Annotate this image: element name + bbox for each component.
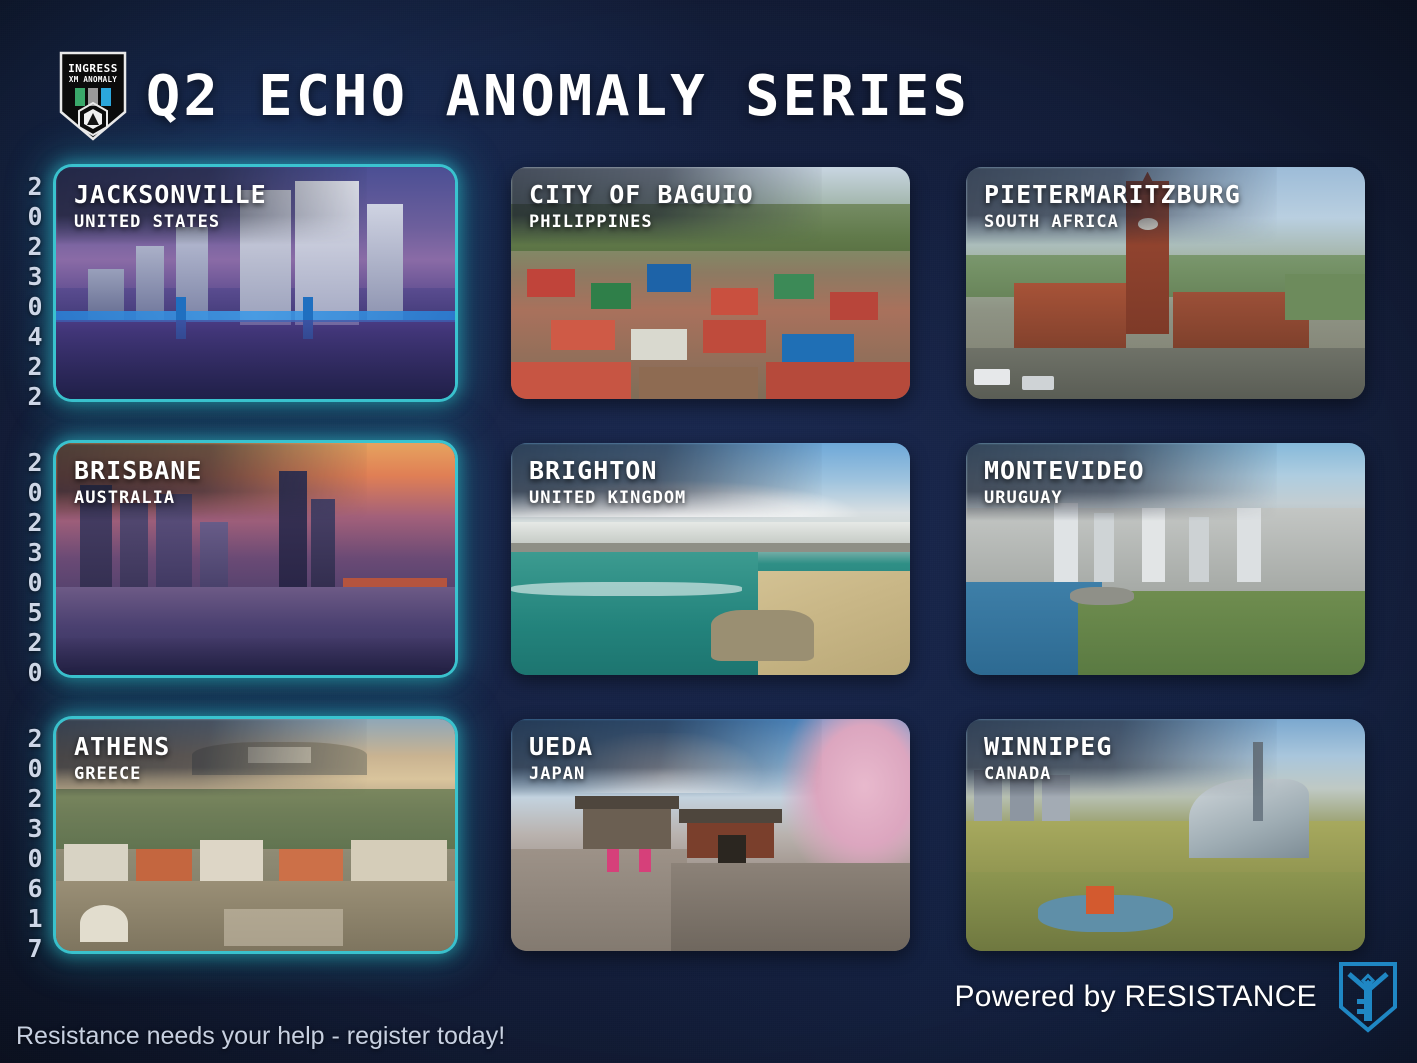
date-rail-row-1: 2 0 2 3 0 4 2 2 xyxy=(14,172,56,412)
date-char: 2 xyxy=(27,628,42,658)
country-name: SOUTH AFRICA xyxy=(984,211,1241,233)
city-card-ueda[interactable]: UEDA JAPAN xyxy=(511,719,910,951)
city-card-labels: UEDA JAPAN xyxy=(529,733,593,785)
country-name: AUSTRALIA xyxy=(74,487,202,509)
country-name: UNITED STATES xyxy=(74,211,267,233)
date-char: 6 xyxy=(27,874,42,904)
date-char: 4 xyxy=(27,322,42,352)
city-name: BRIGHTON xyxy=(529,457,686,485)
anomaly-poster: INGRESS XM ANOMALY Q2 ECHO ANOMALY SERIE… xyxy=(0,0,1417,1063)
country-name: CANADA xyxy=(984,763,1112,785)
poster-header: INGRESS XM ANOMALY Q2 ECHO ANOMALY SERIE… xyxy=(58,50,962,142)
city-name: ATHENS xyxy=(74,733,170,761)
city-card-montevideo[interactable]: MONTEVIDEO URUGUAY xyxy=(966,443,1365,675)
date-char: 2 xyxy=(27,724,42,754)
city-card-labels: MONTEVIDEO URUGUAY xyxy=(984,457,1145,509)
country-name: URUGUAY xyxy=(984,487,1145,509)
city-card-labels: ATHENS GREECE xyxy=(74,733,170,785)
ingress-xm-anomaly-logo-icon: INGRESS XM ANOMALY xyxy=(58,50,128,142)
city-card-jacksonville[interactable]: JACKSONVILLE UNITED STATES xyxy=(56,167,455,399)
date-char: 0 xyxy=(27,292,42,322)
country-name: GREECE xyxy=(74,763,170,785)
svg-text:XM ANOMALY: XM ANOMALY xyxy=(69,75,117,84)
city-name: BRISBANE xyxy=(74,457,202,485)
country-name: UNITED KINGDOM xyxy=(529,487,686,509)
city-card-winnipeg[interactable]: WINNIPEG CANADA xyxy=(966,719,1365,951)
powered-by-text: Powered by RESISTANCE xyxy=(954,980,1317,1014)
city-card-labels: CITY OF BAGUIO PHILIPPINES xyxy=(529,181,754,233)
date-char: 0 xyxy=(27,844,42,874)
date-char: 3 xyxy=(27,538,42,568)
date-char: 0 xyxy=(27,202,42,232)
date-char: 2 xyxy=(27,382,42,412)
anomaly-city-grid: JACKSONVILLE UNITED STATES xyxy=(56,167,1364,953)
date-char: 0 xyxy=(27,754,42,784)
date-char: 7 xyxy=(27,934,42,964)
city-name: CITY OF BAGUIO xyxy=(529,181,754,209)
city-card-labels: BRIGHTON UNITED KINGDOM xyxy=(529,457,686,509)
city-card-city-of-baguio[interactable]: CITY OF BAGUIO PHILIPPINES xyxy=(511,167,910,399)
date-char: 0 xyxy=(27,658,42,688)
country-name: JAPAN xyxy=(529,763,593,785)
date-char: 5 xyxy=(27,598,42,628)
date-rail-row-2: 2 0 2 3 0 5 2 0 xyxy=(14,448,56,688)
city-name: UEDA xyxy=(529,733,593,761)
city-card-pietermaritzburg[interactable]: PIETERMARITZBURG SOUTH AFRICA xyxy=(966,167,1365,399)
city-card-labels: PIETERMARITZBURG SOUTH AFRICA xyxy=(984,181,1241,233)
date-char: 2 xyxy=(27,352,42,382)
date-rail-row-3: 2 0 2 3 0 6 1 7 xyxy=(14,724,56,964)
city-card-labels: WINNIPEG CANADA xyxy=(984,733,1112,785)
city-name: MONTEVIDEO xyxy=(984,457,1145,485)
date-char: 0 xyxy=(27,568,42,598)
city-card-brighton[interactable]: BRIGHTON UNITED KINGDOM xyxy=(511,443,910,675)
page-title: Q2 ECHO ANOMALY SERIES xyxy=(146,64,970,129)
date-char: 2 xyxy=(27,448,42,478)
date-char: 2 xyxy=(27,784,42,814)
date-char: 2 xyxy=(27,508,42,538)
resistance-faction-logo-icon xyxy=(1337,961,1399,1033)
city-card-brisbane[interactable]: BRISBANE AUSTRALIA xyxy=(56,443,455,675)
date-char: 0 xyxy=(27,478,42,508)
date-char: 2 xyxy=(27,232,42,262)
city-card-athens[interactable]: ATHENS GREECE xyxy=(56,719,455,951)
city-name: WINNIPEG xyxy=(984,733,1112,761)
city-card-labels: BRISBANE AUSTRALIA xyxy=(74,457,202,509)
call-to-action-text: Resistance needs your help - register to… xyxy=(16,1022,505,1051)
svg-text:INGRESS: INGRESS xyxy=(68,62,118,75)
city-card-labels: JACKSONVILLE UNITED STATES xyxy=(74,181,267,233)
date-char: 2 xyxy=(27,172,42,202)
city-name: PIETERMARITZBURG xyxy=(984,181,1241,209)
date-char: 3 xyxy=(27,814,42,844)
date-char: 3 xyxy=(27,262,42,292)
city-name: JACKSONVILLE xyxy=(74,181,267,209)
date-char: 1 xyxy=(27,904,42,934)
powered-by-block: Powered by RESISTANCE xyxy=(954,961,1399,1033)
country-name: PHILIPPINES xyxy=(529,211,754,233)
